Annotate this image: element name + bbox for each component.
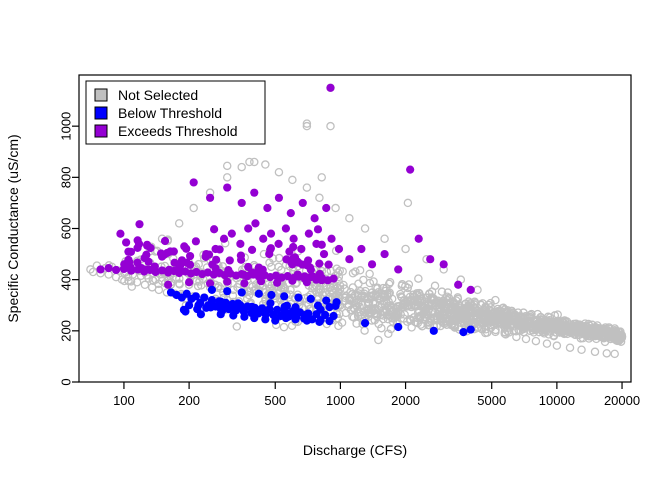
data-point-below-threshold xyxy=(240,313,248,321)
y-axis-tick-label: 800 xyxy=(58,166,73,188)
data-point-below-threshold xyxy=(267,291,275,299)
data-point-exceeds-threshold xyxy=(240,271,248,279)
data-point-below-threshold xyxy=(361,319,369,327)
data-point-exceeds-threshold xyxy=(357,245,365,253)
data-point-exceeds-threshold xyxy=(368,260,376,268)
data-point-exceeds-threshold xyxy=(282,224,290,232)
x-axis-tick-label: 100 xyxy=(113,393,135,408)
data-point-exceeds-threshold xyxy=(151,262,159,270)
data-point-exceeds-threshold xyxy=(122,238,130,246)
data-point-exceeds-threshold xyxy=(406,166,414,174)
y-axis-tick-label: 1000 xyxy=(58,112,73,141)
data-point-exceeds-threshold xyxy=(301,272,309,280)
data-point-below-threshold xyxy=(197,310,205,318)
data-point-below-threshold xyxy=(283,302,291,310)
data-point-exceeds-threshold xyxy=(394,265,402,273)
data-point-below-threshold xyxy=(229,304,237,312)
legend-label-0[interactable]: Not Selected xyxy=(118,87,198,103)
data-point-below-threshold xyxy=(181,307,189,315)
data-point-exceeds-threshold xyxy=(267,230,275,238)
data-point-exceeds-threshold xyxy=(318,241,326,249)
data-point-exceeds-threshold xyxy=(96,265,104,273)
data-point-exceeds-threshold xyxy=(415,235,423,243)
data-point-exceeds-threshold xyxy=(263,204,271,212)
data-point-exceeds-threshold xyxy=(238,199,246,207)
data-point-exceeds-threshold xyxy=(226,256,234,264)
data-point-exceeds-threshold xyxy=(161,237,169,245)
y-axis-tick-label: 400 xyxy=(58,269,73,291)
data-point-exceeds-threshold xyxy=(237,251,245,259)
data-point-below-threshold xyxy=(294,293,302,301)
data-point-exceeds-threshold xyxy=(236,240,244,248)
x-axis-tick-label: 20000 xyxy=(604,393,640,408)
data-point-exceeds-threshold xyxy=(288,277,296,285)
data-point-exceeds-threshold xyxy=(105,264,113,272)
data-point-below-threshold xyxy=(331,302,339,310)
data-point-exceeds-threshold xyxy=(259,235,267,243)
data-point-exceeds-threshold xyxy=(380,250,388,258)
data-point-below-threshold xyxy=(266,299,274,307)
data-point-below-threshold xyxy=(255,290,263,298)
data-point-exceeds-threshold xyxy=(273,279,281,287)
data-point-below-threshold xyxy=(229,311,237,319)
data-point-below-threshold xyxy=(290,308,298,316)
data-point-exceeds-threshold xyxy=(274,240,282,248)
data-point-exceeds-threshold xyxy=(216,245,224,253)
legend-label-2[interactable]: Exceeds Threshold xyxy=(118,123,238,139)
data-point-exceeds-threshold xyxy=(440,260,448,268)
data-point-exceeds-threshold xyxy=(116,230,124,238)
legend-label-1[interactable]: Below Threshold xyxy=(118,105,222,121)
data-point-below-threshold xyxy=(430,327,438,335)
data-point-exceeds-threshold xyxy=(224,266,232,274)
data-point-exceeds-threshold xyxy=(426,255,434,263)
x-axis-tick-label: 2000 xyxy=(391,393,420,408)
data-point-below-threshold xyxy=(317,306,325,314)
data-point-exceeds-threshold xyxy=(223,278,231,286)
data-point-below-threshold xyxy=(467,325,475,333)
data-point-exceeds-threshold xyxy=(335,245,343,253)
data-point-exceeds-threshold xyxy=(124,248,132,256)
data-point-exceeds-threshold xyxy=(248,246,256,254)
legend[interactable]: Not SelectedBelow ThresholdExceeds Thres… xyxy=(86,81,265,144)
data-point-exceeds-threshold xyxy=(467,286,475,294)
data-point-exceeds-threshold xyxy=(250,189,258,197)
x-axis-tick-label: 10000 xyxy=(539,393,575,408)
data-point-exceeds-threshold xyxy=(288,260,296,268)
chart-root: 1002005001000200050001000020000020040060… xyxy=(0,0,672,480)
data-point-exceeds-threshold xyxy=(178,256,186,264)
y-axis-tick-label: 600 xyxy=(58,218,73,240)
data-point-below-threshold xyxy=(208,286,216,294)
data-point-below-threshold xyxy=(238,288,246,296)
x-axis-title: Discharge (CFS) xyxy=(303,442,407,458)
data-point-exceeds-threshold xyxy=(314,225,322,233)
data-point-exceeds-threshold xyxy=(135,220,143,228)
data-point-exceeds-threshold xyxy=(223,183,231,191)
data-point-exceeds-threshold xyxy=(133,259,141,267)
data-point-exceeds-threshold xyxy=(142,251,150,259)
data-point-exceeds-threshold xyxy=(255,263,263,271)
data-point-below-threshold xyxy=(271,317,279,325)
legend-swatch-2[interactable] xyxy=(95,125,107,137)
data-point-exceeds-threshold xyxy=(315,260,323,268)
data-point-below-threshold xyxy=(307,295,315,303)
data-point-exceeds-threshold xyxy=(205,250,213,258)
x-axis-tick-label: 5000 xyxy=(477,393,506,408)
data-point-exceeds-threshold xyxy=(322,204,330,212)
data-point-exceeds-threshold xyxy=(206,194,214,202)
data-point-exceeds-threshold xyxy=(190,178,198,186)
data-point-exceeds-threshold xyxy=(311,214,319,222)
data-point-below-threshold xyxy=(240,305,248,313)
data-point-exceeds-threshold xyxy=(170,259,178,267)
data-point-below-threshold xyxy=(394,323,402,331)
data-point-exceeds-threshold xyxy=(164,281,172,289)
data-point-exceeds-threshold xyxy=(290,235,298,243)
data-point-exceeds-threshold xyxy=(289,243,297,251)
data-point-exceeds-threshold xyxy=(165,266,173,274)
data-point-exceeds-threshold xyxy=(294,270,302,278)
data-point-exceeds-threshold xyxy=(325,261,333,269)
data-point-exceeds-threshold xyxy=(135,240,143,248)
data-point-exceeds-threshold xyxy=(124,256,132,264)
data-point-below-threshold xyxy=(250,314,258,322)
data-point-exceeds-threshold xyxy=(112,266,120,274)
data-point-exceeds-threshold xyxy=(248,268,256,276)
data-point-below-threshold xyxy=(301,311,309,319)
data-point-exceeds-threshold xyxy=(287,209,295,217)
x-axis-tick-label: 500 xyxy=(264,393,286,408)
plot-background xyxy=(0,0,672,480)
data-point-below-threshold xyxy=(216,304,224,312)
legend-swatch-1[interactable] xyxy=(95,107,107,119)
data-point-exceeds-threshold xyxy=(327,235,335,243)
data-point-exceeds-threshold xyxy=(326,84,334,92)
data-point-exceeds-threshold xyxy=(275,194,283,202)
data-point-below-threshold xyxy=(207,303,215,311)
data-point-exceeds-threshold xyxy=(299,199,307,207)
data-point-exceeds-threshold xyxy=(251,219,259,227)
data-point-exceeds-threshold xyxy=(454,281,462,289)
data-point-exceeds-threshold xyxy=(163,249,171,257)
data-point-exceeds-threshold xyxy=(320,250,328,258)
data-point-below-threshold xyxy=(223,287,231,295)
y-axis-title: Specific Conductance (uS/cm) xyxy=(5,134,21,322)
data-point-below-threshold xyxy=(280,292,288,300)
data-point-exceeds-threshold xyxy=(228,230,236,238)
data-point-exceeds-threshold xyxy=(143,266,151,274)
data-point-exceeds-threshold xyxy=(185,278,193,286)
data-point-exceeds-threshold xyxy=(265,250,273,258)
data-point-exceeds-threshold xyxy=(182,245,190,253)
data-point-exceeds-threshold xyxy=(257,277,265,285)
data-point-exceeds-threshold xyxy=(345,255,353,263)
data-point-below-threshold xyxy=(315,318,323,326)
x-axis-tick-label: 1000 xyxy=(326,393,355,408)
data-point-exceeds-threshold xyxy=(329,275,337,283)
x-axis-tick-label: 200 xyxy=(178,393,200,408)
data-point-exceeds-threshold xyxy=(192,237,200,245)
data-point-exceeds-threshold xyxy=(240,279,248,287)
data-point-below-threshold xyxy=(329,312,337,320)
data-point-exceeds-threshold xyxy=(220,235,228,243)
data-point-exceeds-threshold xyxy=(244,224,252,232)
data-point-exceeds-threshold xyxy=(210,225,218,233)
data-point-below-threshold xyxy=(200,293,208,301)
data-point-below-threshold xyxy=(459,328,467,336)
scatter-plot: 1002005001000200050001000020000020040060… xyxy=(0,0,672,480)
data-point-exceeds-threshold xyxy=(304,256,312,264)
data-point-exceeds-threshold xyxy=(297,245,305,253)
data-point-below-threshold xyxy=(261,315,269,323)
y-axis-tick-label: 0 xyxy=(58,378,73,385)
y-axis-tick-label: 200 xyxy=(58,320,73,342)
data-point-exceeds-threshold xyxy=(305,230,313,238)
data-point-exceeds-threshold xyxy=(186,252,194,260)
legend-swatch-0[interactable] xyxy=(95,89,107,101)
data-point-exceeds-threshold xyxy=(208,261,216,269)
data-point-exceeds-threshold xyxy=(316,270,324,278)
data-point-below-threshold xyxy=(248,303,256,311)
